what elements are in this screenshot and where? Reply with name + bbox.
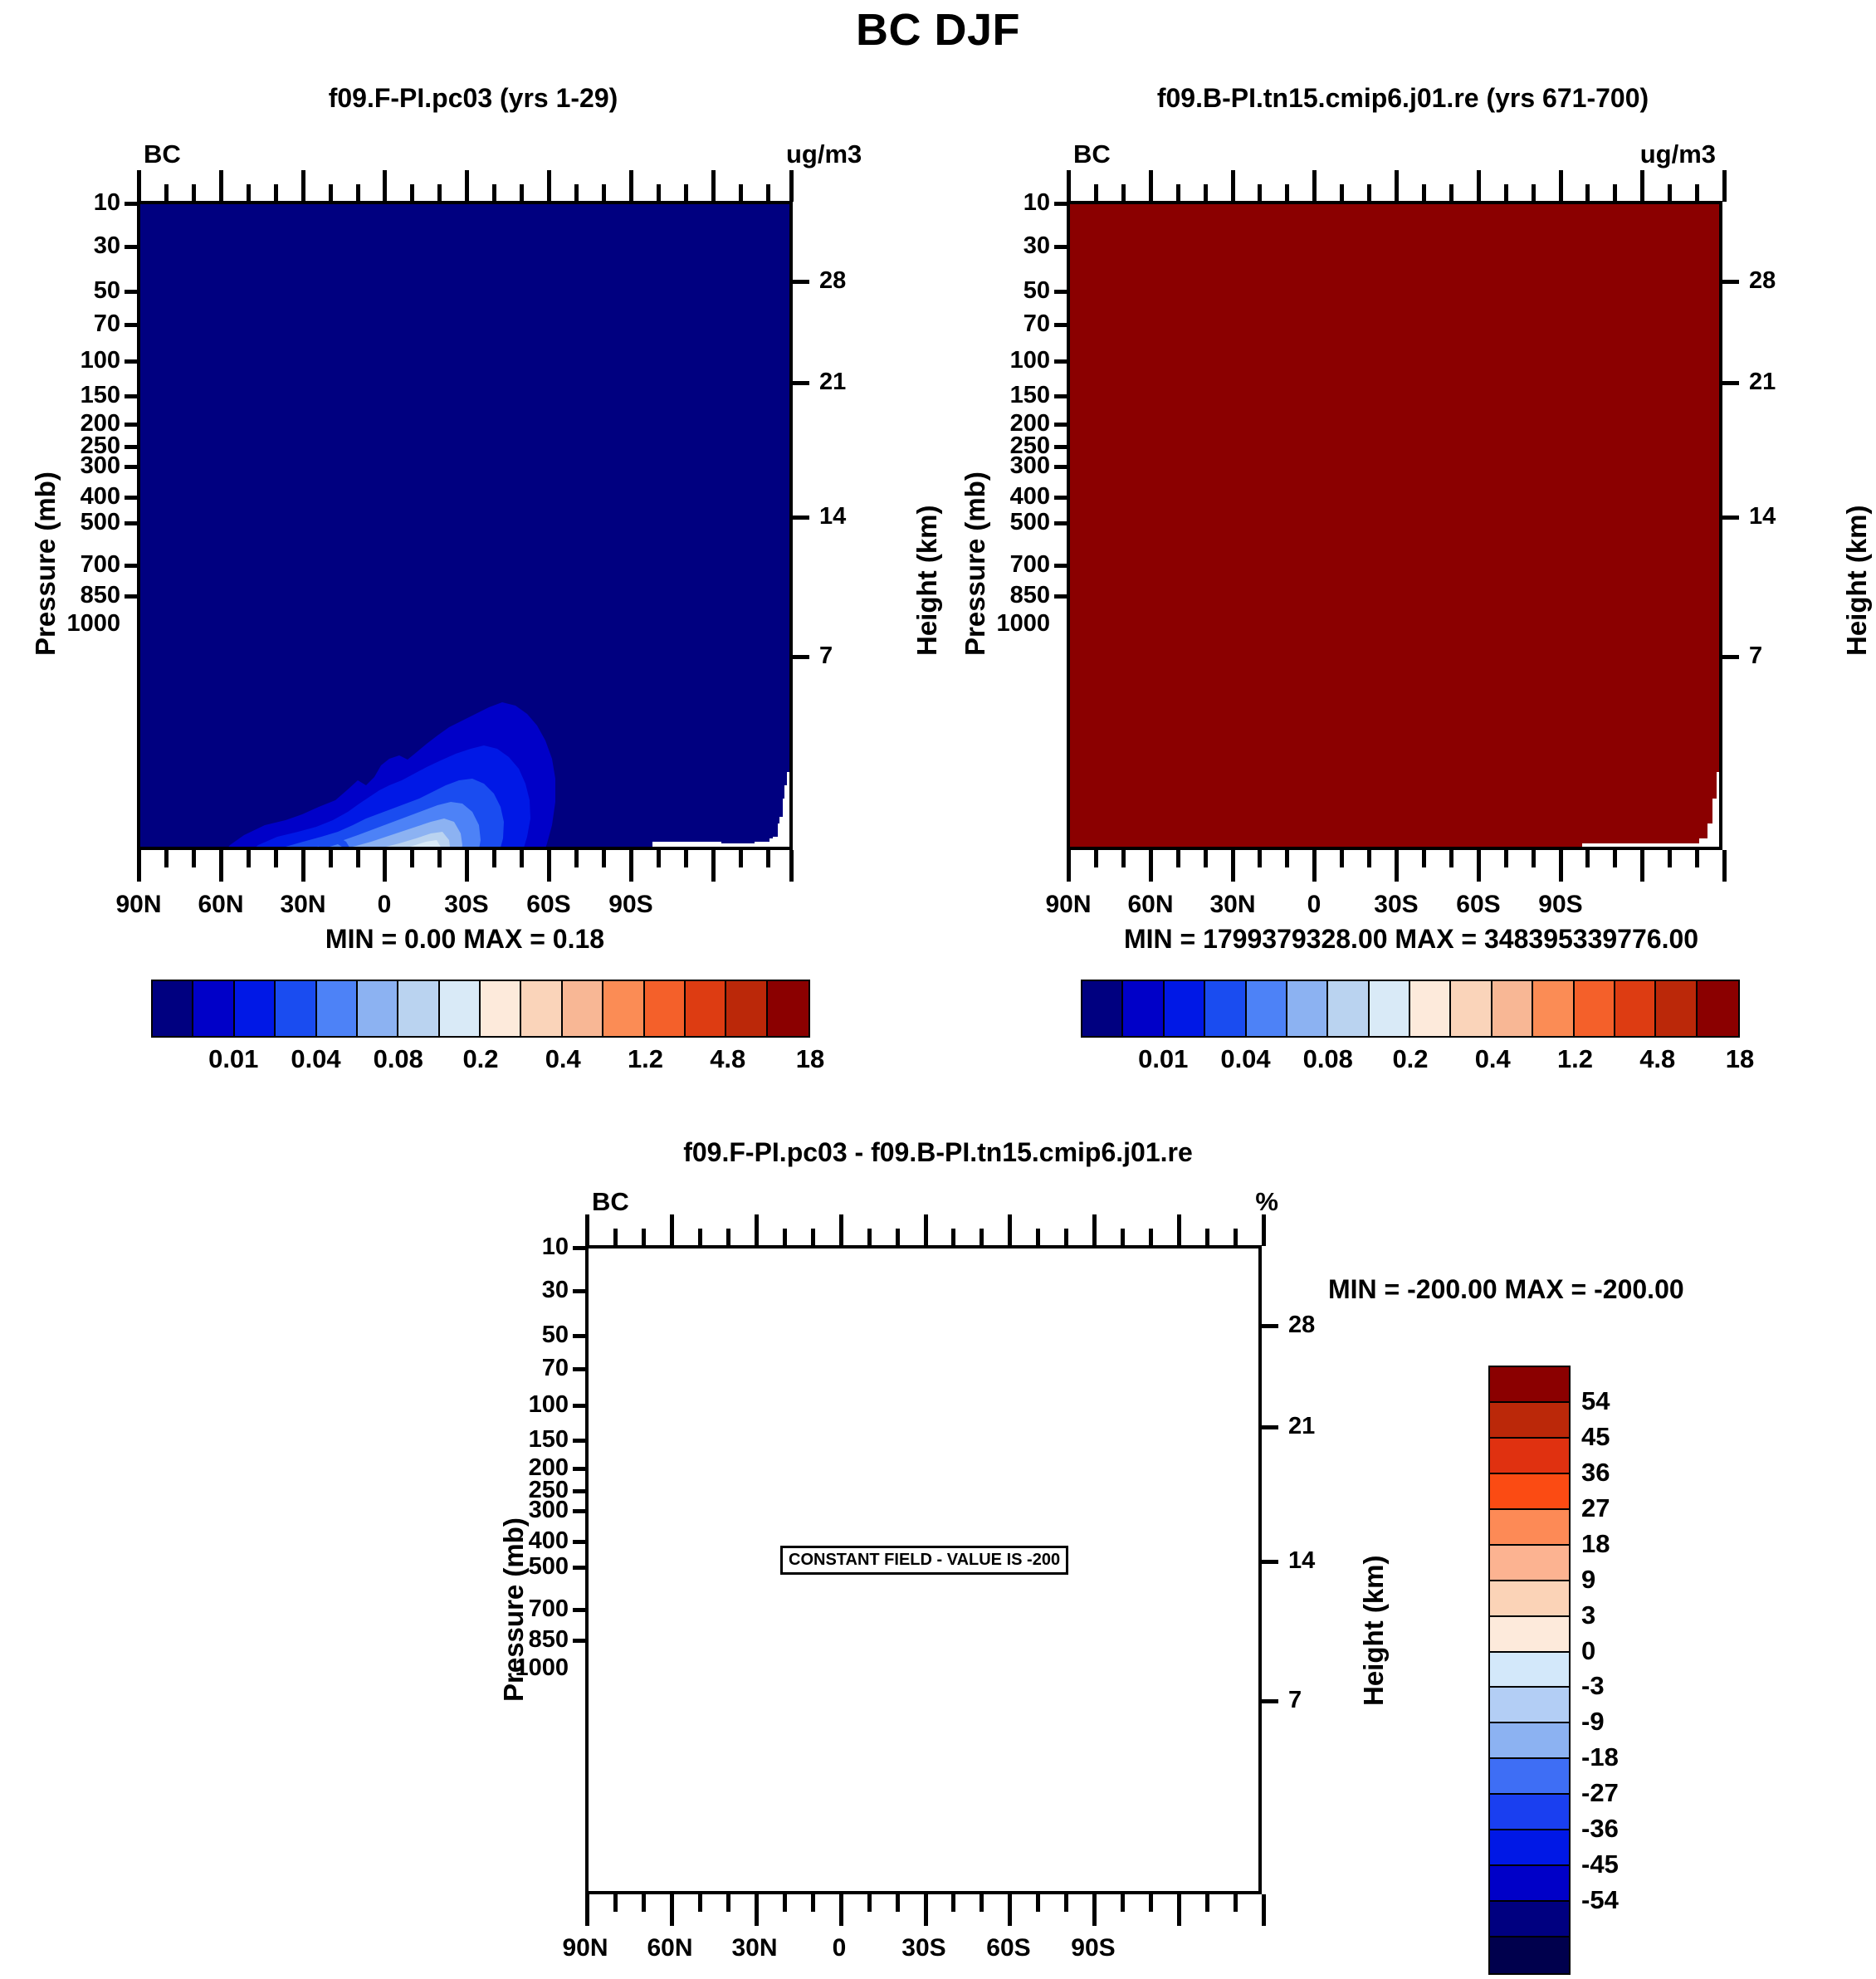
axis-tick <box>1121 850 1126 867</box>
colorbar-tick-label: -45 <box>1581 1850 1619 1879</box>
colorbar-tick-label: 54 <box>1581 1386 1610 1416</box>
y-tick-label: 1000 <box>486 1654 569 1682</box>
colorbar-swatch[interactable] <box>235 981 276 1036</box>
y2-tick-label: 28 <box>819 267 846 295</box>
y2-tick-label: 21 <box>1749 369 1776 396</box>
y-tick-label: 300 <box>980 452 1050 480</box>
axis-tick <box>1340 850 1344 867</box>
y2-tick-label: 21 <box>819 369 846 396</box>
axis-tick <box>1585 184 1590 202</box>
panel-corner-label-variable-diff: BC <box>592 1187 629 1217</box>
colorbar-labels-test: 0.010.040.080.20.41.24.818 <box>151 1044 807 1077</box>
axis-tick <box>1234 1229 1238 1246</box>
colorbar-swatch[interactable] <box>1656 981 1697 1036</box>
axis-tick <box>1449 184 1453 202</box>
axis-tick <box>896 1229 900 1246</box>
y-tick-label: 400 <box>498 1527 569 1555</box>
axis-tick <box>1422 184 1426 202</box>
axis-tick <box>1177 1214 1181 1246</box>
colorbar-control[interactable] <box>1081 980 1740 1038</box>
y2-tick-label: 7 <box>1288 1687 1302 1714</box>
axis-tick <box>980 1894 984 1912</box>
colorbar-swatch[interactable] <box>481 981 521 1036</box>
colorbar-swatch[interactable] <box>1490 1902 1569 1937</box>
y-tick-label: 30 <box>498 1277 569 1304</box>
axis-tick <box>642 1894 646 1912</box>
colorbar-swatch[interactable] <box>1247 981 1287 1036</box>
colorbar-tick-label: 45 <box>1581 1422 1610 1452</box>
axis-tick <box>1262 1894 1266 1926</box>
colorbar-swatch[interactable] <box>193 981 234 1036</box>
axis-tick <box>1722 170 1727 202</box>
colorbar-tick-label: 0.2 <box>1392 1044 1428 1074</box>
colorbar-swatch[interactable] <box>1490 1830 1569 1866</box>
axis-tick <box>951 1894 955 1912</box>
x-tick-label: 90S <box>1043 1934 1143 1962</box>
y-tick-label: 50 <box>498 1322 569 1349</box>
panel-title-difference: f09.F-PI.pc03 - f09.B-PI.tn15.cmip6.j01.… <box>440 1137 1436 1168</box>
colorbar-swatch[interactable] <box>1490 1723 1569 1759</box>
y-tick-label: 400 <box>50 483 120 511</box>
colorbar-swatch[interactable] <box>276 981 316 1036</box>
y-tick-label: 50 <box>980 277 1050 305</box>
colorbar-swatch[interactable] <box>1490 1474 1569 1510</box>
y-tick-label: 10 <box>50 189 120 217</box>
x-tick-label: 90S <box>581 891 681 919</box>
axis-tick <box>670 1894 674 1926</box>
colorbar-swatch[interactable] <box>563 981 603 1036</box>
colorbar-swatch[interactable] <box>1490 1688 1569 1723</box>
axis-tick <box>1176 850 1180 867</box>
colorbar-tick-label: 0 <box>1581 1636 1595 1666</box>
axis-tick <box>1149 1894 1153 1912</box>
colorbar-tick-label: -36 <box>1581 1814 1619 1844</box>
axis-tick <box>1008 1214 1012 1246</box>
colorbar-tick-label: 0.4 <box>1475 1044 1511 1074</box>
y-tick-label: 100 <box>980 347 1050 374</box>
axis-tick <box>642 1229 646 1246</box>
panel-title-test: f09.F-PI.pc03 (yrs 1-29) <box>33 83 913 114</box>
y-tick-label: 700 <box>498 1595 569 1623</box>
colorbar-swatch[interactable] <box>1370 981 1410 1036</box>
colorbar-tick-label: 9 <box>1581 1565 1595 1595</box>
axis-tick <box>1613 184 1617 202</box>
y-tick-label: 1000 <box>967 610 1050 638</box>
y-tick-label: 1000 <box>37 610 120 638</box>
y2-tick-label: 28 <box>1749 267 1776 295</box>
axis-tick <box>1477 170 1481 202</box>
axis-tick <box>1092 1894 1097 1926</box>
colorbar-swatch[interactable] <box>1287 981 1328 1036</box>
axis-tick <box>1668 184 1672 202</box>
axis-tick <box>1312 170 1317 202</box>
colorbar-swatch[interactable] <box>645 981 686 1036</box>
colorbar-difference[interactable] <box>1488 1366 1571 1975</box>
colorbar-tick-label: 0.08 <box>1303 1044 1353 1074</box>
axis-tick <box>1395 850 1399 882</box>
colorbar-tick-label: -18 <box>1581 1742 1619 1772</box>
axis-tick <box>1094 850 1098 867</box>
constant-field-annotation: CONSTANT FIELD - VALUE IS -200 <box>780 1546 1068 1575</box>
y-tick-label: 700 <box>50 551 120 579</box>
y2-tick-label: 21 <box>1288 1413 1315 1440</box>
axis-tick <box>585 1214 589 1246</box>
axis-tick <box>924 1894 928 1926</box>
axis-tick <box>951 1229 955 1246</box>
y-tick-label: 700 <box>980 551 1050 579</box>
axis-tick <box>1092 1214 1097 1246</box>
colorbar-swatch[interactable] <box>1328 981 1369 1036</box>
y-tick-label: 300 <box>498 1497 569 1524</box>
y-tick-label: 10 <box>980 189 1050 217</box>
colorbar-tick-label: 1.2 <box>1557 1044 1593 1074</box>
colorbar-swatch[interactable] <box>1490 1439 1569 1474</box>
colorbar-tick-label: 18 <box>1581 1529 1610 1559</box>
colorbar-tick-label: 4.8 <box>1639 1044 1675 1074</box>
axis-tick <box>755 1894 759 1926</box>
axis-tick <box>698 1894 702 1912</box>
colorbar-swatch[interactable] <box>1492 981 1533 1036</box>
colorbar-swatch[interactable] <box>1490 1795 1569 1830</box>
plot-area-control <box>1067 201 1722 850</box>
axis-tick <box>726 1229 730 1246</box>
axis-tick <box>1285 184 1289 202</box>
colorbar-swatch[interactable] <box>1123 981 1164 1036</box>
colorbar-tick-label: 3 <box>1581 1600 1595 1630</box>
axis-tick <box>1149 850 1153 882</box>
axis-tick <box>1367 850 1371 867</box>
colorbar-tick-label: 0.08 <box>374 1044 423 1074</box>
colorbar-tick-label: 0.04 <box>1220 1044 1270 1074</box>
colorbar-tick-label: -9 <box>1581 1707 1605 1737</box>
axis-tick <box>1504 184 1508 202</box>
colorbar-labels-difference: 5445362718930-3-9-18-27-36-45-54 <box>1581 1366 1681 1972</box>
y2-tick-label: 14 <box>819 503 846 530</box>
axis-tick <box>1613 850 1617 867</box>
colorbar-swatch[interactable] <box>1205 981 1246 1036</box>
axis-tick <box>1231 850 1235 882</box>
colorbar-swatch[interactable] <box>1490 1581 1569 1617</box>
colorbar-swatch[interactable] <box>398 981 439 1036</box>
axis-tick <box>585 1894 589 1926</box>
x-tick-label: 90S <box>1511 891 1610 919</box>
axis-tick <box>1422 850 1426 867</box>
y-tick-label: 100 <box>50 347 120 374</box>
axis-tick <box>698 1229 702 1246</box>
colorbar-tick-label: 0.2 <box>462 1044 498 1074</box>
panel-corner-label-variable-left: BC <box>144 139 181 169</box>
axis-tick <box>1559 850 1563 882</box>
y-tick-label: 70 <box>498 1355 569 1382</box>
minmax-label-control: MIN = 1799379328.00 MAX = 348395339776.0… <box>946 924 1876 955</box>
axis-tick <box>1234 1894 1238 1912</box>
y-tick-label: 70 <box>50 310 120 338</box>
y2-axis-title-height-left: Height (km) <box>911 506 943 657</box>
colorbar-tick-label: -27 <box>1581 1778 1619 1808</box>
axis-tick <box>839 1894 843 1926</box>
y-tick-label: 500 <box>50 509 120 536</box>
colorbar-swatch[interactable] <box>1451 981 1492 1036</box>
axis-tick <box>1585 850 1590 867</box>
colorbar-swatch[interactable] <box>1533 981 1574 1036</box>
colorbar-swatch[interactable] <box>153 981 193 1036</box>
y2-axis-title-height-right: Height (km) <box>1841 506 1873 657</box>
colorbar-swatch[interactable] <box>1490 1617 1569 1653</box>
axis-tick <box>1176 184 1180 202</box>
axis-tick <box>980 1229 984 1246</box>
axis-tick <box>1532 850 1536 867</box>
colorbar-swatch[interactable] <box>1165 981 1205 1036</box>
axis-tick <box>1449 850 1453 867</box>
axis-tick <box>1008 1894 1012 1926</box>
contour-fill-test <box>140 204 793 850</box>
y-tick-label: 400 <box>980 483 1050 511</box>
colorbar-swatch[interactable] <box>1490 1759 1569 1795</box>
panel-corner-label-variable-right: BC <box>1073 139 1111 169</box>
contour-fill-control <box>1070 204 1722 850</box>
axis-tick <box>1121 1894 1125 1912</box>
colorbar-swatch[interactable] <box>1082 981 1123 1036</box>
colorbar-swatch[interactable] <box>358 981 398 1036</box>
axis-tick <box>1640 170 1644 202</box>
axis-tick <box>924 1214 928 1246</box>
colorbar-tick-label: 0.01 <box>208 1044 258 1074</box>
axis-tick <box>1064 1229 1068 1246</box>
y2-axis-title-height-diff: Height (km) <box>1358 1556 1390 1707</box>
axis-tick <box>1695 850 1699 867</box>
axis-tick <box>839 1214 843 1246</box>
colorbar-tick-label: 36 <box>1581 1458 1610 1488</box>
colorbar-tick-label: 18 <box>1726 1044 1754 1074</box>
y-tick-label: 500 <box>980 509 1050 536</box>
y-tick-label: 150 <box>980 382 1050 409</box>
axis-tick <box>1640 850 1644 882</box>
y-tick-label: 30 <box>50 232 120 260</box>
colorbar-tick-label: 27 <box>1581 1493 1610 1523</box>
axis-tick <box>1205 1894 1209 1912</box>
y-tick-label: 850 <box>498 1626 569 1654</box>
axis-tick <box>1340 184 1344 202</box>
colorbar-tick-label: -54 <box>1581 1885 1619 1915</box>
colorbar-swatch[interactable] <box>317 981 358 1036</box>
axis-tick <box>811 1894 815 1912</box>
axis-tick <box>1258 850 1262 867</box>
axis-tick <box>1064 1894 1068 1912</box>
y-tick-label: 150 <box>498 1426 569 1454</box>
colorbar-swatch[interactable] <box>1410 981 1451 1036</box>
colorbar-swatch[interactable] <box>440 981 481 1036</box>
panel-corner-label-units-diff: % <box>1255 1187 1278 1217</box>
colorbar-swatch[interactable] <box>1490 1510 1569 1546</box>
colorbar-swatch[interactable] <box>1490 1653 1569 1688</box>
colorbar-tick-label: -3 <box>1581 1671 1605 1701</box>
axis-tick <box>1205 1229 1209 1246</box>
y-tick-label: 50 <box>50 277 120 305</box>
colorbar-swatch[interactable] <box>1698 981 1738 1036</box>
axis-tick <box>1504 850 1508 867</box>
y-tick-label: 300 <box>50 452 120 480</box>
y2-tick-label: 28 <box>1288 1312 1315 1339</box>
colorbar-tick-label: 0.01 <box>1138 1044 1188 1074</box>
axis-tick <box>1477 850 1481 882</box>
y2-tick-label: 7 <box>819 643 833 670</box>
axis-tick <box>867 1229 872 1246</box>
axis-tick <box>1036 1229 1040 1246</box>
colorbar-tick-label: 0.4 <box>545 1044 581 1074</box>
axis-tick <box>1262 1214 1266 1246</box>
axis-tick <box>811 1229 815 1246</box>
y-tick-label: 10 <box>498 1234 569 1261</box>
colorbar-swatch[interactable] <box>1490 1937 1569 1973</box>
axis-tick <box>613 1229 618 1246</box>
axis-tick <box>1258 184 1262 202</box>
colorbar-test[interactable] <box>151 980 810 1038</box>
axis-tick <box>1177 1894 1181 1926</box>
colorbar-labels-control: 0.010.040.080.20.41.24.818 <box>1081 1044 1737 1077</box>
colorbar-tick-label: 0.04 <box>291 1044 340 1074</box>
panel-title-control: f09.B-PI.tn15.cmip6.j01.re (yrs 671-700) <box>963 83 1843 114</box>
y2-tick-label: 14 <box>1749 503 1776 530</box>
axis-tick <box>613 1894 618 1912</box>
axis-tick <box>1149 1229 1153 1246</box>
axis-tick <box>1121 184 1126 202</box>
axis-tick <box>1395 170 1399 202</box>
axis-tick <box>867 1894 872 1912</box>
axis-tick <box>1121 1229 1125 1246</box>
colorbar-swatch[interactable] <box>726 981 767 1036</box>
axis-tick <box>896 1894 900 1912</box>
y2-tick-label: 14 <box>1288 1547 1315 1575</box>
axis-tick <box>670 1214 674 1246</box>
y-tick-label: 30 <box>980 232 1050 260</box>
axis-tick <box>783 1229 787 1246</box>
colorbar-swatch[interactable] <box>1490 1866 1569 1902</box>
colorbar-swatch[interactable] <box>603 981 644 1036</box>
y-tick-label: 850 <box>50 582 120 609</box>
figure-title: BC DJF <box>0 4 1876 56</box>
axis-tick <box>1559 170 1563 202</box>
colorbar-swatch[interactable] <box>521 981 562 1036</box>
axis-tick <box>1067 170 1071 202</box>
y-tick-label: 850 <box>980 582 1050 609</box>
axis-tick <box>1149 170 1153 202</box>
axis-tick <box>1367 184 1371 202</box>
colorbar-tick-label: 18 <box>796 1044 824 1074</box>
y-tick-label: 500 <box>498 1553 569 1581</box>
axis-tick <box>1067 850 1071 882</box>
axis-tick <box>1231 170 1235 202</box>
colorbar-swatch[interactable] <box>1490 1546 1569 1581</box>
colorbar-swatch[interactable] <box>1615 981 1656 1036</box>
axis-tick <box>1204 850 1208 867</box>
colorbar-swatch[interactable] <box>1575 981 1615 1036</box>
axis-tick <box>1695 184 1699 202</box>
axis-tick <box>1285 850 1289 867</box>
axis-tick <box>1668 850 1672 867</box>
y-tick-label: 150 <box>50 382 120 409</box>
colorbar-swatch[interactable] <box>686 981 726 1036</box>
axis-tick <box>726 1894 730 1912</box>
y-tick-label: 70 <box>980 310 1050 338</box>
axis-tick <box>1094 184 1098 202</box>
axis-tick <box>783 1894 787 1912</box>
minmax-label-test: MIN = 0.00 MAX = 0.18 <box>0 924 930 955</box>
colorbar-swatch[interactable] <box>1490 1367 1569 1403</box>
axis-tick <box>1312 850 1317 882</box>
y-tick-label: 100 <box>498 1391 569 1419</box>
y2-tick-label: 7 <box>1749 643 1762 670</box>
minmax-label-difference: MIN = -200.00 MAX = -200.00 <box>1328 1274 1684 1305</box>
axis-tick <box>1722 850 1727 882</box>
plot-area-test <box>137 201 793 850</box>
axis-tick <box>755 1214 759 1246</box>
axis-tick <box>1532 184 1536 202</box>
colorbar-tick-label: 4.8 <box>710 1044 745 1074</box>
axis-tick <box>1036 1894 1040 1912</box>
axis-tick <box>1204 184 1208 202</box>
colorbar-tick-label: 1.2 <box>628 1044 663 1074</box>
panel-corner-label-units-right: ug/m3 <box>1640 139 1716 169</box>
colorbar-swatch[interactable] <box>768 981 809 1036</box>
colorbar-swatch[interactable] <box>1490 1403 1569 1439</box>
